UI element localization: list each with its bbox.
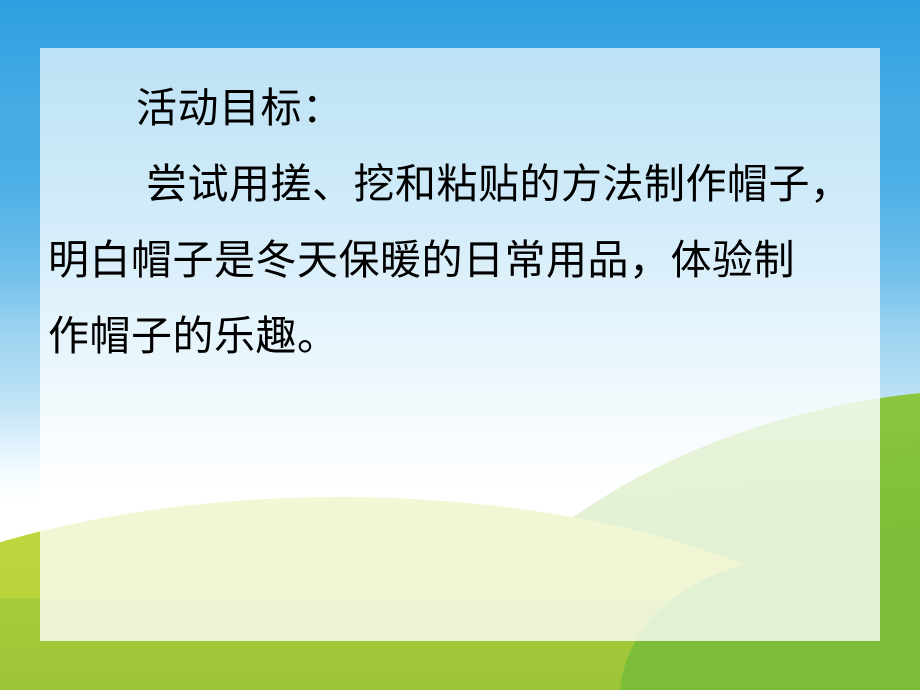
objectives-line-1: 尝试用搓、挖和粘贴的方法制作帽子， bbox=[48, 146, 872, 222]
objectives-line-3: 作帽子的乐趣。 bbox=[48, 298, 872, 374]
content-text-block: 活动目标： 尝试用搓、挖和粘贴的方法制作帽子， 明白帽子是冬天保暖的日常用品，体… bbox=[40, 48, 880, 374]
slide-canvas: 活动目标： 尝试用搓、挖和粘贴的方法制作帽子， 明白帽子是冬天保暖的日常用品，体… bbox=[0, 0, 920, 690]
objectives-heading: 活动目标： bbox=[48, 70, 872, 146]
objectives-line-2: 明白帽子是冬天保暖的日常用品，体验制 bbox=[48, 222, 872, 298]
content-card: 活动目标： 尝试用搓、挖和粘贴的方法制作帽子， 明白帽子是冬天保暖的日常用品，体… bbox=[40, 48, 880, 641]
